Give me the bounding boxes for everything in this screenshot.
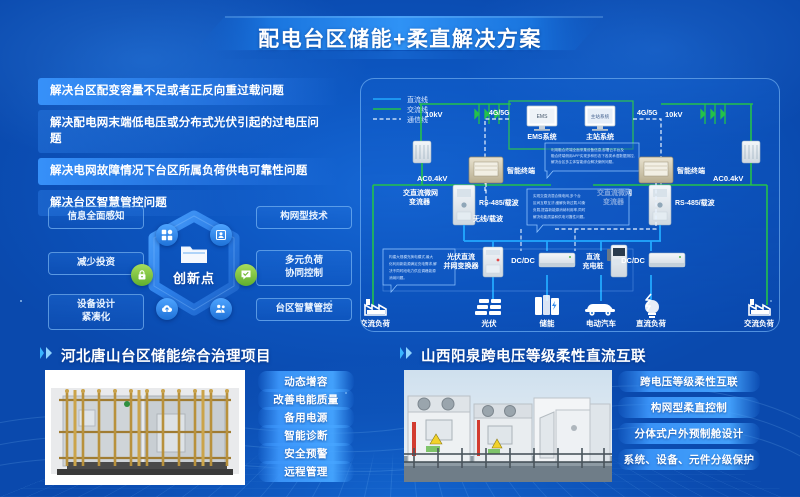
device-dcdc-1: DC/DC: [511, 253, 575, 267]
check-chat-icon[interactable]: [235, 264, 257, 286]
arrow-icon: [400, 347, 416, 363]
hv-bus-right: 10kV AC0.4kV: [661, 104, 760, 185]
svg-text:构建大规模充换电模式,最大: 构建大规模充换电模式,最大: [389, 254, 434, 259]
svg-text:4G/5G: 4G/5G: [637, 110, 658, 117]
innovation-label-2: 多元负荷 协同控制: [256, 250, 352, 286]
svg-text:储能: 储能: [540, 318, 555, 328]
svg-text:AC0.4kV: AC0.4kV: [713, 174, 743, 183]
people-icon[interactable]: [210, 298, 232, 320]
innovation-label-1: 构网型技术: [256, 206, 352, 229]
svg-text:RS-485/载波: RS-485/载波: [479, 198, 520, 207]
project-title-0: 河北唐山台区储能综合治理项目: [40, 345, 271, 366]
svg-text:化利用新能源满足充电需求,解: 化利用新能源满足充电需求,解: [389, 261, 437, 266]
smart-terminal-right: 智能终端: [639, 157, 705, 183]
svg-text:光伏: 光伏: [481, 318, 497, 328]
innovation-label-3: 台区智慧管控: [256, 298, 352, 321]
project-title-text: 河北唐山台区储能综合治理项目: [61, 349, 271, 365]
svg-text:决不同时段电力供应调峰能源: 决不同时段电力供应调峰能源: [389, 268, 436, 273]
svg-text:交流负荷: 交流负荷: [361, 318, 390, 328]
schematic-drawing: 直流线 交流线 通信线 10kV: [361, 79, 779, 331]
sparkle: [20, 300, 22, 302]
project-tag: 构网型柔直控制: [618, 397, 760, 418]
svg-text:10kV: 10kV: [425, 110, 443, 119]
problem-item: 解决配电网末端低电压或分布式光伏引起的过电压问题: [38, 110, 338, 153]
svg-text:智能终端: 智能终端: [677, 166, 705, 175]
svg-text:负载,提高新能源消纳利用率,同时: 负载,提高新能源消纳利用率,同时: [533, 207, 586, 212]
problem-item: 解决电网故障情况下台区所属负荷供电可靠性问题: [38, 158, 338, 185]
svg-text:电动汽车: 电动汽车: [586, 318, 616, 328]
system-schematic-panel: 直流线 交流线 通信线 10kV: [360, 78, 780, 332]
project-tag: 系统、设备、元件分级保护: [618, 449, 760, 470]
arrow-icon: [40, 347, 56, 363]
innovation-label-0: 信息全面感知: [48, 206, 144, 229]
innovation-label-5: 减少投资: [48, 252, 144, 275]
slide-canvas: 配电台区储能+柔直解决方案 解决台区配变容量不足或者正反向重过载问题 解决配电网…: [0, 0, 800, 497]
load-icons: [365, 294, 770, 318]
svg-text:光伏直流: 光伏直流: [446, 252, 475, 261]
svg-text:并网变换器: 并网变换器: [444, 261, 480, 270]
svg-text:EMS系统: EMS系统: [527, 132, 556, 141]
svg-text:主站系统: 主站系统: [591, 113, 610, 120]
cloud-upload-icon[interactable]: [156, 298, 178, 320]
grid-user-icon[interactable]: [210, 224, 232, 246]
svg-text:充电桩: 充电桩: [583, 261, 604, 270]
svg-text:10kV: 10kV: [665, 110, 683, 119]
svg-text:EMS: EMS: [537, 114, 549, 120]
svg-text:消纳问题。: 消纳问题。: [389, 275, 407, 280]
project-photo-1: [404, 370, 612, 482]
svg-text:主站系统: 主站系统: [586, 132, 614, 141]
control-system-box: EMS EMS系统 主站系统 主站系统: [509, 101, 633, 149]
schematic-legend: 直流线 交流线 通信线: [373, 95, 428, 124]
svg-text:融合终端侧用APP实现多种形态下各类术语数据测控,: 融合终端侧用APP实现多种形态下各类术语数据测控,: [551, 153, 635, 158]
project-tag: 远程管理: [258, 461, 354, 482]
solar-panel-icon: [475, 299, 501, 315]
svg-text:实现交直流混合微电网,多个台: 实现交直流混合微电网,多个台: [533, 193, 581, 198]
page-title: 配电台区储能+柔直解决方案: [258, 23, 542, 53]
svg-text:4G/5G: 4G/5G: [489, 110, 510, 117]
callout-bubble-2: 实现交直流混合微电网,多个台 区间互联互济,缓解负荷过载,均衡 负载,提高新能源…: [527, 189, 629, 232]
dc-load-icon: [645, 294, 659, 318]
dashboard-icon[interactable]: [156, 224, 178, 246]
svg-text:变流器: 变流器: [409, 197, 431, 206]
device-dcdc-2: DC/DC: [621, 253, 685, 267]
ev-car-icon: [585, 304, 615, 316]
svg-text:DC/DC: DC/DC: [621, 256, 645, 265]
svg-text:AC0.4kV: AC0.4kV: [417, 174, 447, 183]
innovation-label-4: 设备设计 紧凑化: [48, 294, 144, 330]
project-title-text: 山西阳泉跨电压等级柔性直流互联: [421, 349, 646, 365]
svg-text:交直流微网: 交直流微网: [403, 188, 438, 197]
svg-text:智能终端: 智能终端: [507, 166, 535, 175]
svg-text:RS-485/载波: RS-485/载波: [675, 198, 716, 207]
project-title-1: 山西阳泉跨电压等级柔性直流互联: [400, 345, 646, 366]
problem-item: 解决台区配变容量不足或者正反向重过载问题: [38, 78, 338, 105]
factory-icon: [365, 299, 386, 315]
svg-text:无线/载波: 无线/载波: [472, 214, 504, 223]
folder-icon: [179, 242, 209, 266]
lock-icon[interactable]: [131, 264, 153, 286]
innovation-core: 创新点: [132, 204, 256, 324]
smart-terminal-left: 智能终端: [469, 157, 535, 183]
svg-text:直流负荷: 直流负荷: [636, 318, 666, 328]
svg-text:解决电能质量和供电可靠性问题。: 解决电能质量和供电可靠性问题。: [533, 214, 587, 219]
svg-text:解决台区多主体智能综合解决案例问题。: 解决台区多主体智能综合解决案例问题。: [551, 159, 616, 164]
svg-text:DC/DC: DC/DC: [511, 256, 535, 265]
svg-text:直流: 直流: [586, 252, 600, 261]
svg-text:直流线: 直流线: [407, 95, 428, 104]
load-labels: 交流负荷 光伏 储能 电动汽车 直流负荷 交流负荷: [361, 318, 774, 328]
callout-bubble-1: 利用融合终端全面采集设备信息,部署云平台及 融合终端侧用APP实现多种形态下各类…: [545, 143, 639, 178]
battery-storage-icon: [535, 295, 559, 315]
title-banner: 配电台区储能+柔直解决方案: [0, 16, 800, 60]
project-tag: 分体式户外预制舱设计: [618, 423, 760, 444]
svg-text:区间互联互济,缓解负荷过载,均衡: 区间互联互济,缓解负荷过载,均衡: [533, 200, 586, 205]
project-photo-0: [45, 370, 245, 485]
svg-text:利用融合终端全面采集设备信息,部署云平台及: 利用融合终端全面采集设备信息,部署云平台及: [551, 147, 624, 152]
project-tag: 跨电压等级柔性互联: [618, 371, 760, 392]
svg-text:交流负荷: 交流负荷: [744, 318, 774, 328]
innovation-diagram: 信息全面感知 构网型技术 多元负荷 协同控制 台区智慧管控 设备设计 紧凑化 减…: [40, 198, 355, 330]
